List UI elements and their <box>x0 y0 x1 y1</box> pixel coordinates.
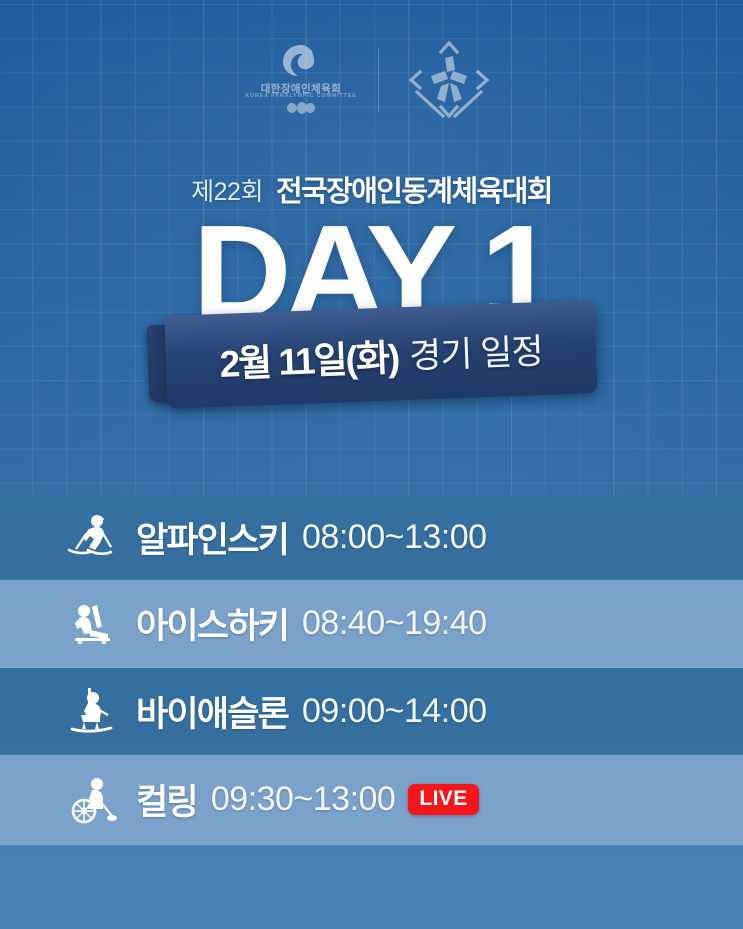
sport-name: 알파인스키 <box>136 512 288 563</box>
sport-name: 아이스하키 <box>136 598 288 649</box>
schedule-row[interactable]: 아이스하키 08:40~19:40 <box>0 580 743 668</box>
wheelchair-curling-icon <box>62 771 120 829</box>
kpc-name-en: KOREA PARALYMPIC COMMITTEE <box>242 93 360 99</box>
ribbon-label: 경기 일정 <box>408 323 543 379</box>
sport-time: 09:00~14:00 <box>302 692 487 731</box>
korea-paralympic-committee-logo: 대한장애인체육회 KOREA PARALYMPIC COMMITTEE <box>242 41 360 119</box>
schedule-row[interactable]: 컬링 09:30~13:00 LIVE <box>0 755 743 845</box>
schedule-list: 알파인스키 08:00~13:00 아이스하키 08:40~19:40 <box>0 495 743 845</box>
footer-band <box>0 845 743 929</box>
sport-time: 08:00~13:00 <box>302 518 487 557</box>
ribbon-text: 2월 11일(화) 경기 일정 <box>164 300 597 409</box>
date-ribbon: 2월 11일(화) 경기 일정 <box>0 292 743 437</box>
logo-divider <box>378 48 379 112</box>
status-badge-live: LIVE <box>408 784 478 815</box>
sport-name: 바이애슬론 <box>136 686 288 737</box>
logo-row: 대한장애인체육회 KOREA PARALYMPIC COMMITTEE <box>0 36 743 124</box>
ribbon-date: 2월 11일(화) <box>218 327 399 388</box>
schedule-row[interactable]: 바이애슬론 09:00~14:00 <box>0 668 743 755</box>
sport-time: 08:40~19:40 <box>302 604 487 643</box>
schedule-row[interactable]: 알파인스키 08:00~13:00 <box>0 495 743 580</box>
national-winter-games-emblem-icon <box>397 36 501 124</box>
alpine-skiing-icon <box>62 508 120 566</box>
sport-time: 09:30~13:00 <box>211 780 396 819</box>
agitos-icon <box>287 101 315 115</box>
kpc-symbol-icon <box>281 43 321 79</box>
biathlon-icon <box>62 682 120 740</box>
event-schedule-poster: 대한장애인체육회 KOREA PARALYMPIC COMMITTEE <box>0 0 743 929</box>
para-ice-hockey-icon <box>62 595 120 653</box>
sport-name: 컬링 <box>136 774 197 825</box>
